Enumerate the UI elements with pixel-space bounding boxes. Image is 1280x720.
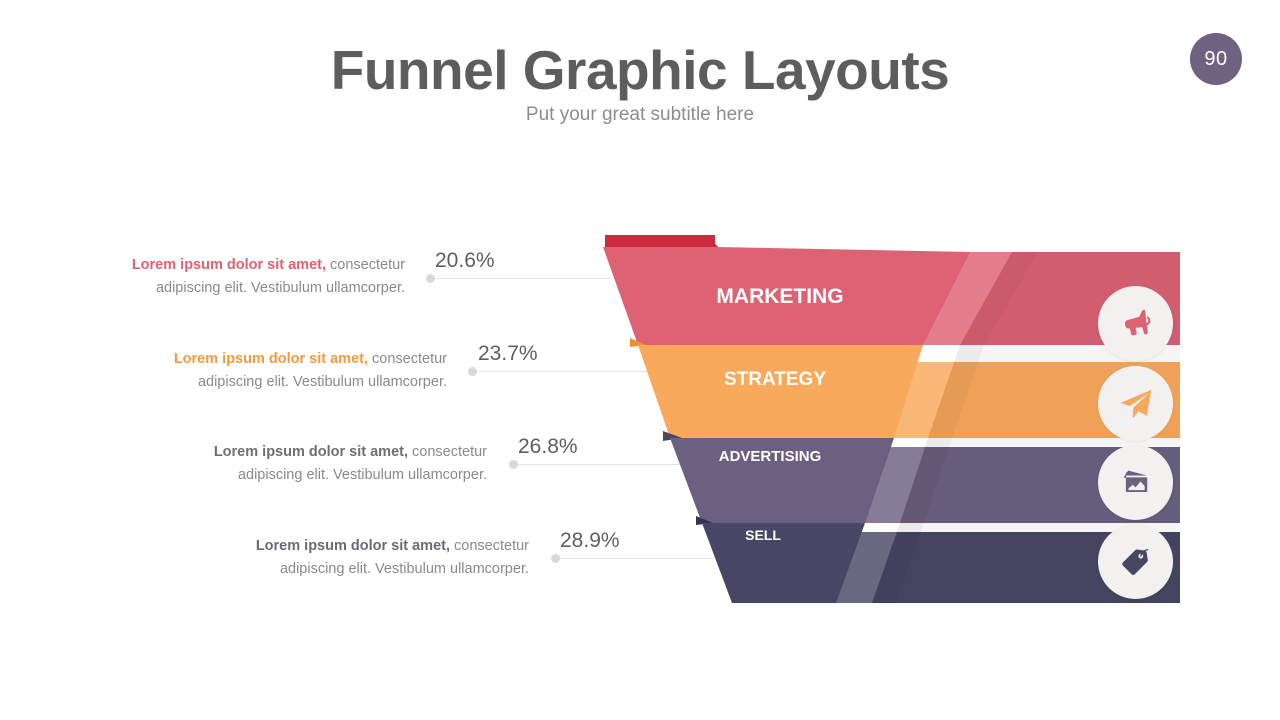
- page-subtitle: Put your great subtitle here: [0, 103, 1280, 127]
- desc-rest-advertising: consectetur: [408, 444, 487, 460]
- leader-dot-sell: [551, 554, 560, 563]
- desc-line-1: Lorem ipsum dolor sit amet, consectetur: [152, 348, 447, 371]
- stage-percent-marketing: 20.6%: [435, 249, 495, 273]
- slide-canvas: Funnel Graphic Layouts Put your great su…: [0, 0, 1280, 720]
- desc-line-2-strategy: adipiscing elit. Vestibulum ullamcorper.: [152, 371, 447, 394]
- desc-lead-strategy: Lorem ipsum dolor sit amet,: [174, 351, 368, 367]
- funnel-label-advertising: ADVERTISING: [719, 448, 822, 465]
- megaphone-icon: [1117, 305, 1155, 343]
- leader-dot-strategy: [468, 367, 477, 376]
- picture-icon: [1118, 465, 1154, 501]
- stage-icon-circle-sell[interactable]: [1098, 524, 1173, 599]
- desc-lead-sell: Lorem ipsum dolor sit amet,: [256, 538, 450, 554]
- leader-dot-advertising: [509, 460, 518, 469]
- stage-percent-strategy: 23.7%: [478, 342, 538, 366]
- desc-rest-strategy: consectetur: [368, 351, 447, 367]
- desc-line-2-advertising: adipiscing elit. Vestibulum ullamcorper.: [192, 464, 487, 487]
- leader-dot-marketing: [426, 274, 435, 283]
- desc-line-1: Lorem ipsum dolor sit amet, consectetur: [110, 254, 405, 277]
- funnel-label-sell: SELL: [745, 527, 781, 543]
- stage-icon-circle-marketing[interactable]: [1098, 286, 1173, 361]
- stage-description-marketing: Lorem ipsum dolor sit amet, consectetur …: [110, 254, 405, 300]
- funnel-label-marketing: MARKETING: [716, 285, 843, 308]
- desc-lead-marketing: Lorem ipsum dolor sit amet,: [132, 257, 326, 273]
- funnel-band-strategy: [638, 345, 923, 438]
- desc-line-1: Lorem ipsum dolor sit amet, consectetur: [192, 441, 487, 464]
- desc-lead-advertising: Lorem ipsum dolor sit amet,: [214, 444, 408, 460]
- stage-icon-circle-advertising[interactable]: [1098, 445, 1173, 520]
- stage-description-strategy: Lorem ipsum dolor sit amet, consectetur …: [152, 348, 447, 394]
- desc-rest-marketing: consectetur: [326, 257, 405, 273]
- desc-rest-sell: consectetur: [450, 538, 529, 554]
- paper-plane-icon: [1117, 385, 1155, 423]
- page-number-badge: 90: [1190, 33, 1242, 85]
- desc-line-1: Lorem ipsum dolor sit amet, consectetur: [234, 535, 529, 558]
- desc-line-2-sell: adipiscing elit. Vestibulum ullamcorper.: [234, 558, 529, 581]
- funnel-label-strategy: STRATEGY: [724, 369, 826, 390]
- price-tag-icon: [1117, 543, 1154, 580]
- page-number-badge-label: 90: [1204, 48, 1227, 71]
- stage-description-advertising: Lorem ipsum dolor sit amet, consectetur …: [192, 441, 487, 487]
- stage-icon-circle-strategy[interactable]: [1098, 366, 1173, 441]
- page-title: Funnel Graphic Layouts: [0, 38, 1280, 102]
- stage-description-sell: Lorem ipsum dolor sit amet, consectetur …: [234, 535, 529, 581]
- desc-line-2-marketing: adipiscing elit. Vestibulum ullamcorper.: [110, 277, 405, 300]
